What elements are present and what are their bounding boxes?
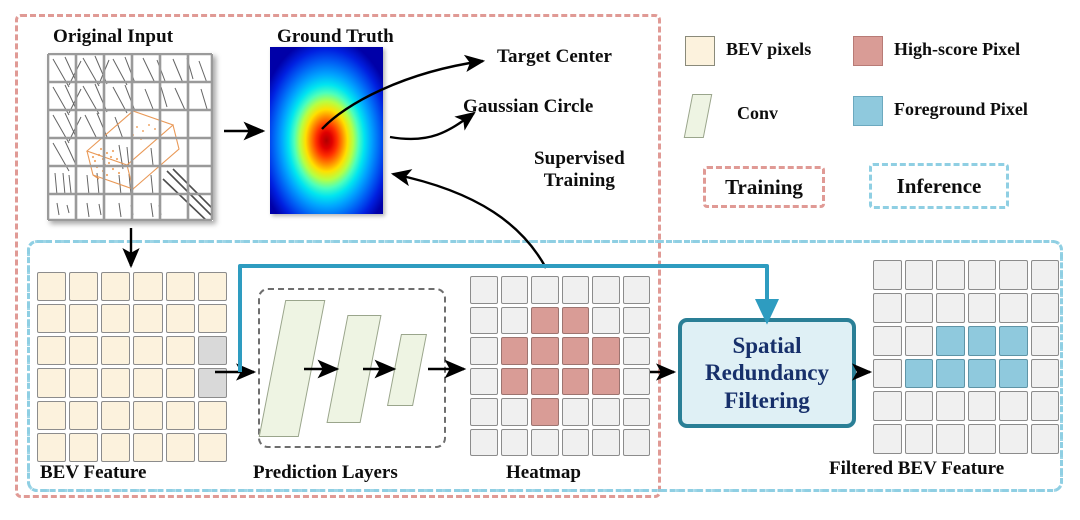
grid-cell [592, 307, 620, 335]
grid-cell [1031, 359, 1060, 389]
grid-cell [69, 433, 98, 462]
original-input-image [47, 53, 213, 221]
ground-truth-title: Ground Truth [277, 26, 394, 48]
grid-cell [69, 336, 98, 365]
grid-cell [905, 326, 934, 356]
grid-cell [968, 293, 997, 323]
caption-filtered-bev-feature: Filtered BEV Feature [829, 458, 1004, 480]
grid-cell [531, 368, 559, 396]
grid-cell [470, 368, 498, 396]
grid-cell [198, 272, 227, 301]
grid-cell [69, 304, 98, 333]
grid-cell [562, 398, 590, 426]
badge-training: Training [703, 166, 825, 208]
legend-swatch-bev-pixels [685, 36, 715, 66]
grid-cell [999, 424, 1028, 454]
grid-cell [873, 326, 902, 356]
grid-cell [101, 401, 130, 430]
grid-cell [501, 368, 529, 396]
grid-cell [592, 398, 620, 426]
grid-cell [592, 368, 620, 396]
grid-cell [37, 272, 66, 301]
grid-cell [69, 401, 98, 430]
grid-cell [873, 359, 902, 389]
srf-line-3: Filtering [705, 387, 829, 414]
grid-cell [936, 424, 965, 454]
grid-cell [873, 293, 902, 323]
bev-feature-grid [37, 272, 227, 462]
grid-cell [69, 368, 98, 397]
grid-cell [501, 398, 529, 426]
legend-label-conv: Conv [737, 103, 778, 124]
grid-cell [1031, 424, 1060, 454]
grid-cell [905, 391, 934, 421]
grid-cell [968, 260, 997, 290]
grid-cell [470, 276, 498, 304]
grid-cell [501, 307, 529, 335]
grid-cell [562, 429, 590, 457]
grid-cell [531, 398, 559, 426]
grid-cell [133, 368, 162, 397]
grid-cell [166, 304, 195, 333]
grid-cell [470, 307, 498, 335]
grid-cell [999, 359, 1028, 389]
grid-cell [37, 304, 66, 333]
grid-cell [166, 401, 195, 430]
caption-prediction-layers: Prediction Layers [253, 462, 398, 484]
grid-cell [531, 337, 559, 365]
grid-cell [936, 260, 965, 290]
grid-cell [968, 424, 997, 454]
grid-cell [562, 368, 590, 396]
grid-cell [1031, 326, 1060, 356]
grid-cell [592, 276, 620, 304]
legend-label-high-score-pixel: High-score Pixel [894, 39, 1020, 60]
grid-cell [623, 307, 651, 335]
grid-cell [905, 359, 934, 389]
grid-cell [501, 429, 529, 457]
badge-inference: Inference [869, 163, 1009, 209]
grid-cell [198, 368, 227, 397]
grid-cell [873, 424, 902, 454]
grid-cell [623, 368, 651, 396]
grid-cell [968, 391, 997, 421]
grid-cell [999, 326, 1028, 356]
grid-cell [999, 391, 1028, 421]
grid-cell [198, 336, 227, 365]
grid-cell [166, 368, 195, 397]
grid-cell [592, 429, 620, 457]
grid-cell [198, 433, 227, 462]
supervised-line-2: Training [534, 170, 625, 192]
supervised-line-1: Supervised [534, 148, 625, 170]
grid-cell [562, 307, 590, 335]
grid-cell [101, 368, 130, 397]
grid-cell [470, 429, 498, 457]
grid-cell [470, 337, 498, 365]
srf-line-2: Redundancy [705, 359, 829, 386]
grid-cell [69, 272, 98, 301]
legend-swatch-conv [684, 94, 713, 138]
legend-label-foreground-pixel: Foreground Pixel [894, 99, 1028, 120]
caption-bev-feature: BEV Feature [40, 462, 146, 484]
grid-cell [1031, 293, 1060, 323]
grid-cell [562, 276, 590, 304]
ground-truth-heatmap [270, 47, 383, 214]
grid-cell [936, 326, 965, 356]
grid-cell [133, 433, 162, 462]
grid-cell [133, 401, 162, 430]
spatial-redundancy-filtering-block[interactable]: Spatial Redundancy Filtering [678, 318, 856, 428]
grid-cell [936, 391, 965, 421]
grid-cell [531, 307, 559, 335]
grid-cell [101, 336, 130, 365]
grid-cell [101, 304, 130, 333]
grid-cell [198, 401, 227, 430]
grid-cell [133, 272, 162, 301]
label-target-center: Target Center [497, 46, 612, 68]
grid-cell [905, 260, 934, 290]
grid-cell [37, 368, 66, 397]
grid-cell [37, 336, 66, 365]
legend-swatch-high-score-pixel [853, 36, 883, 66]
grid-cell [936, 359, 965, 389]
grid-cell [623, 429, 651, 457]
grid-cell [873, 391, 902, 421]
grid-cell [470, 398, 498, 426]
srf-line-1: Spatial [705, 332, 829, 359]
grid-cell [166, 336, 195, 365]
grid-cell [873, 260, 902, 290]
legend-swatch-foreground-pixel [853, 96, 883, 126]
label-gaussian-circle: Gaussian Circle [463, 96, 593, 118]
grid-cell [37, 401, 66, 430]
grid-cell [1031, 260, 1060, 290]
grid-cell [623, 398, 651, 426]
grid-cell [592, 337, 620, 365]
legend-label-bev-pixels: BEV pixels [726, 39, 811, 60]
grid-cell [133, 304, 162, 333]
grid-cell [101, 272, 130, 301]
grid-cell [905, 424, 934, 454]
grid-cell [968, 326, 997, 356]
grid-cell [905, 293, 934, 323]
grid-cell [999, 293, 1028, 323]
filtered-bev-feature-grid [873, 260, 1059, 454]
grid-cell [501, 276, 529, 304]
grid-cell [531, 276, 559, 304]
heatmap-grid [470, 276, 650, 456]
grid-cell [37, 433, 66, 462]
grid-cell [101, 433, 130, 462]
label-supervised-training: Supervised Training [534, 148, 625, 192]
grid-cell [562, 337, 590, 365]
grid-cell [166, 272, 195, 301]
original-input-title: Original Input [53, 26, 173, 48]
grid-cell [1031, 391, 1060, 421]
grid-cell [623, 337, 651, 365]
grid-cell [936, 293, 965, 323]
grid-cell [999, 260, 1028, 290]
grid-cell [968, 359, 997, 389]
grid-cell [501, 337, 529, 365]
grid-cell [133, 336, 162, 365]
grid-cell [166, 433, 195, 462]
grid-cell [623, 276, 651, 304]
grid-cell [531, 429, 559, 457]
grid-cell [198, 304, 227, 333]
caption-heatmap: Heatmap [506, 462, 581, 484]
